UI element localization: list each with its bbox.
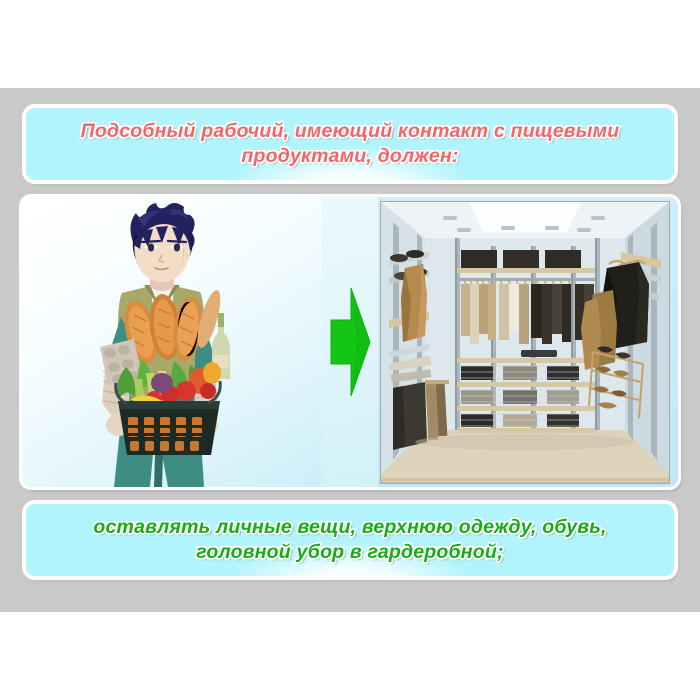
title-text: Подсобный рабочий, имеющий контакт с пищ… xyxy=(65,119,636,169)
walk-in-wardrobe-photo xyxy=(380,201,670,484)
slide-root: Подсобный рабочий, имеющий контакт с пищ… xyxy=(0,0,700,700)
right-photo-cell xyxy=(378,197,678,487)
green-right-arrow-icon xyxy=(327,282,373,402)
left-illustration-cell xyxy=(22,197,322,487)
worker-holding-grocery-basket-illustration xyxy=(22,197,322,487)
content-panel xyxy=(22,197,678,487)
footer-banner: оставлять личные вещи, верхнюю одежду, о… xyxy=(26,504,674,576)
title-banner: Подсобный рабочий, имеющий контакт с пищ… xyxy=(26,108,674,180)
footer-text: оставлять личные вещи, верхнюю одежду, о… xyxy=(77,515,622,565)
slide-canvas: Подсобный рабочий, имеющий контакт с пищ… xyxy=(0,88,700,612)
arrow-cell xyxy=(322,197,378,487)
wardrobe-room-image xyxy=(381,202,669,483)
